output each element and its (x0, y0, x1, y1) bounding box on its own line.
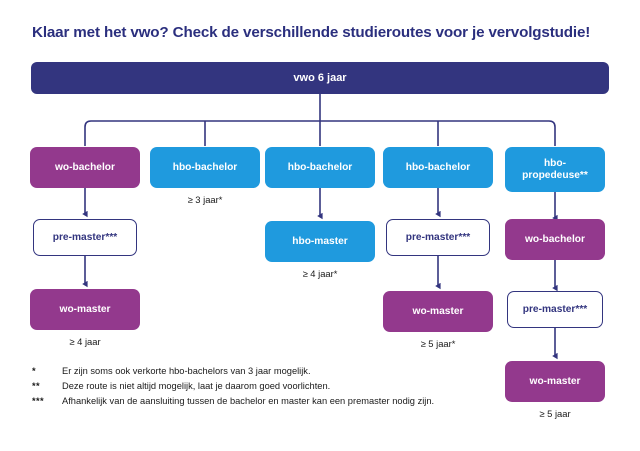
node-label: wo-master (413, 306, 464, 318)
root-node-vwo: vwo 6 jaar (31, 62, 609, 94)
footnote-text: Afhankelijk van de aansluiting tussen de… (62, 396, 592, 408)
root-node-label: vwo 6 jaar (293, 72, 346, 84)
footnote-item: * Er zijn soms ook verkorte hbo-bachelor… (32, 366, 592, 378)
route-2-duration: ≥ 3 jaar* (150, 194, 260, 205)
node-label: wo-bachelor (525, 234, 585, 246)
route-3-node-2: hbo-master (265, 221, 375, 262)
route-2-node-1: hbo-bachelor (150, 147, 260, 188)
footnote-marker: * (32, 366, 62, 378)
footnote-text: Er zijn soms ook verkorte hbo-bachelors … (62, 366, 592, 378)
node-label: pre-master*** (523, 304, 588, 316)
route-1-node-2: pre-master*** (33, 219, 137, 256)
footnotes: * Er zijn soms ook verkorte hbo-bachelor… (32, 366, 592, 411)
footnote-text: Deze route is niet altijd mogelijk, laat… (62, 381, 592, 393)
node-label: wo-bachelor (55, 162, 115, 174)
route-5-node-2: wo-bachelor (505, 219, 605, 260)
footnote-marker: ** (32, 381, 62, 393)
route-4-node-2: pre-master*** (386, 219, 490, 256)
node-label: hbo-bachelor (288, 162, 353, 174)
route-1-duration: ≥ 4 jaar (30, 336, 140, 347)
page-title: Klaar met het vwo? Check de verschillend… (32, 24, 622, 41)
node-label: pre-master*** (406, 232, 471, 244)
route-4-node-1: hbo-bachelor (383, 147, 493, 188)
study-routes-diagram: Klaar met het vwo? Check de verschillend… (0, 0, 640, 451)
node-label: hbo-master (292, 236, 347, 248)
route-4-node-3: wo-master (383, 291, 493, 332)
route-3-node-1: hbo-bachelor (265, 147, 375, 188)
route-5-node-3: pre-master*** (507, 291, 603, 328)
route-1-node-3: wo-master (30, 289, 140, 330)
node-label: wo-master (60, 304, 111, 316)
footnote-item: ** Deze route is niet altijd mogelijk, l… (32, 381, 592, 393)
footnote-marker: *** (32, 396, 62, 408)
node-label: pre-master*** (53, 232, 118, 244)
node-label: hbo-bachelor (406, 162, 471, 174)
node-label: hbo- propedeuse** (522, 158, 588, 181)
node-label: hbo-bachelor (173, 162, 238, 174)
route-1-node-1: wo-bachelor (30, 147, 140, 188)
footnote-item: *** Afhankelijk van de aansluiting tusse… (32, 396, 592, 408)
route-4-duration: ≥ 5 jaar* (383, 338, 493, 349)
route-3-duration: ≥ 4 jaar* (265, 268, 375, 279)
route-5-node-1: hbo- propedeuse** (505, 147, 605, 192)
